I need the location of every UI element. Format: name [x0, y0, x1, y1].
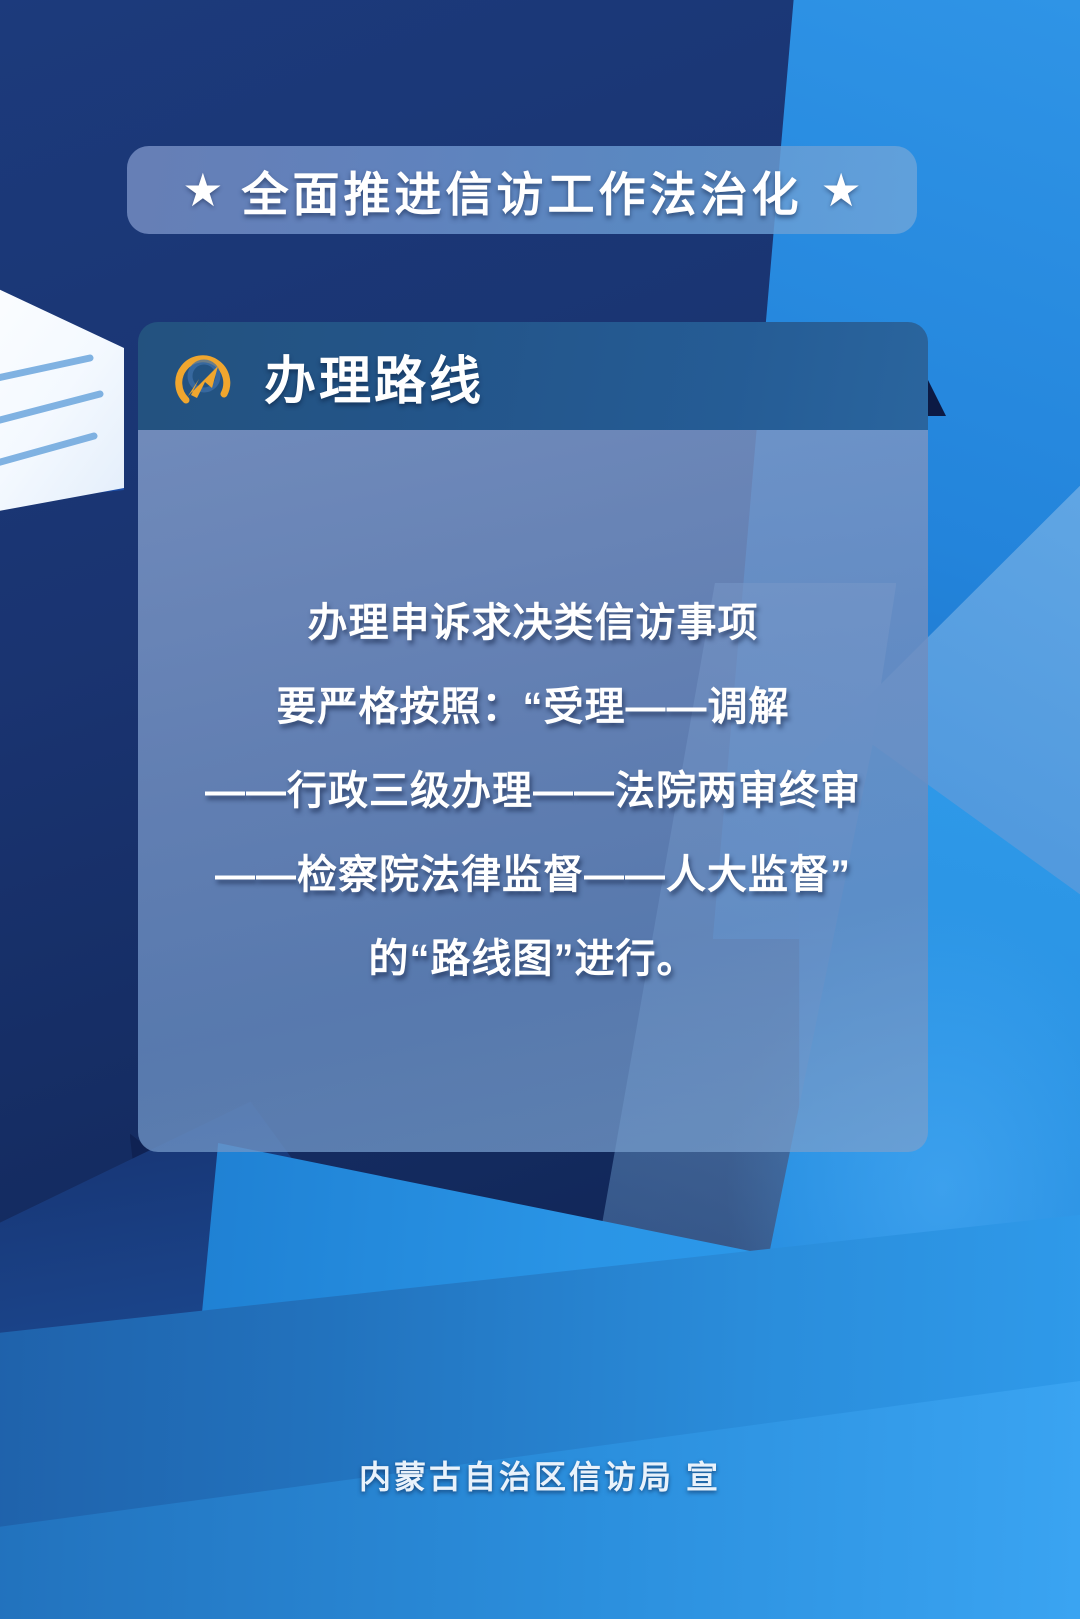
content-card: 办理路线 办理申诉求决类信访事项 要严格按照：“受理——调解 ——行政三级办理—… [138, 322, 928, 1152]
star-right-icon: ★ [821, 167, 862, 213]
publisher-credit: 内蒙古自治区信访局 宣 [0, 1452, 1080, 1498]
card-header: 办理路线 [138, 322, 928, 430]
headline-title: 全面推进信访工作法治化 [242, 156, 803, 225]
card-body: 办理申诉求决类信访事项 要严格按照：“受理——调解 ——行政三级办理——法院两审… [138, 430, 928, 1152]
headline-banner: ★ 全面推进信访工作法治化 ★ [127, 146, 917, 234]
star-left-icon: ★ [182, 167, 223, 213]
body-line: 要严格按照：“受理——调解 [277, 687, 790, 727]
body-line: ——检察院法律监督——人大监督” [215, 855, 851, 895]
body-line: ——行政三级办理——法院两审终审 [205, 771, 861, 811]
body-line: 办理申诉求决类信访事项 [308, 603, 759, 643]
open-book-icon [0, 238, 146, 538]
card-title: 办理路线 [264, 339, 484, 414]
poster-canvas: ★ 全面推进信访工作法治化 ★ 办理路线 办理申诉求决类信访事项 要严格按照：“… [0, 0, 1080, 1619]
cursor-arrow-circle-icon [166, 338, 242, 414]
body-line: 的“路线图”进行。 [369, 939, 698, 979]
